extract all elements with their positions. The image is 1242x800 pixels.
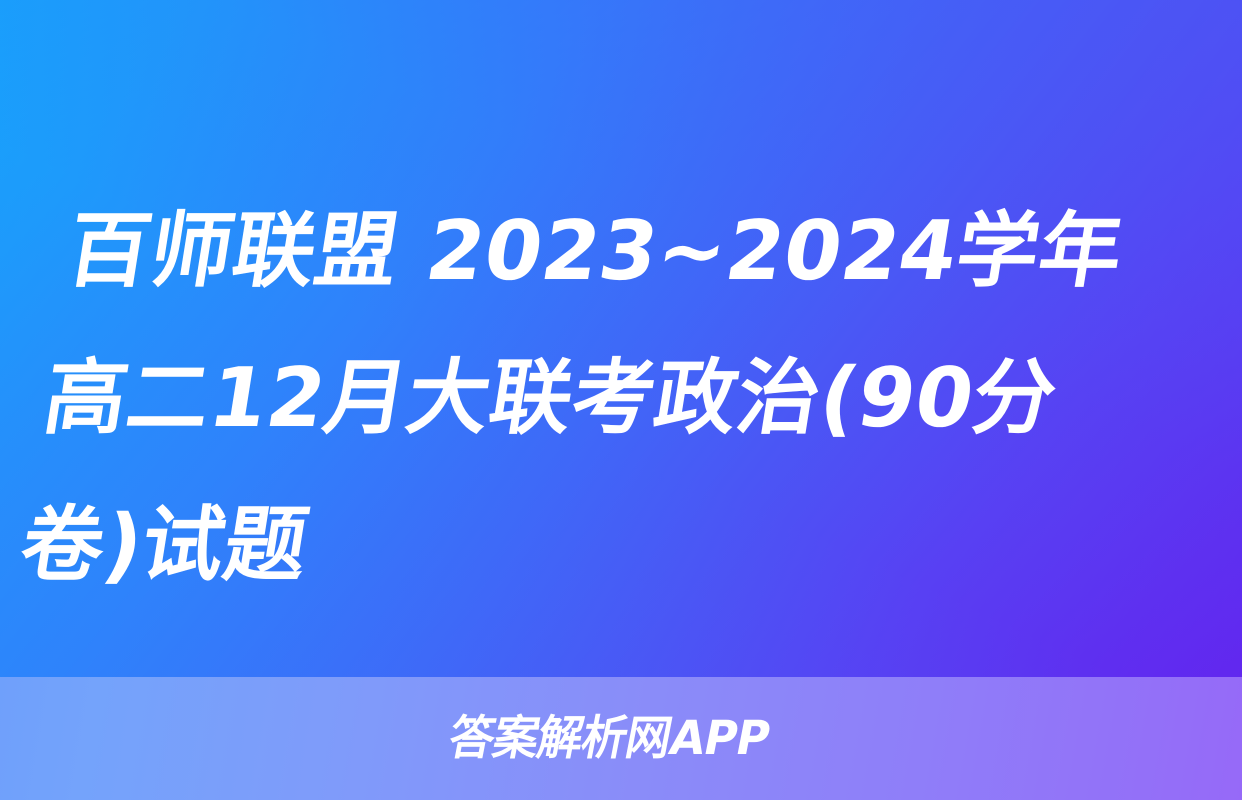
app-wordmark: 答案解析网APP (445, 715, 773, 762)
hero-gradient-panel: 百师联盟 2023~2024学年高二12月大联考政治(90分卷)试题 (0, 0, 1242, 677)
page-title: 百师联盟 2023~2024学年高二12月大联考政治(90分卷)试题 (10, 178, 1170, 619)
footer-brand-band: 答案解析网APP (0, 677, 1242, 800)
exam-paper-cover-poster: 百师联盟 2023~2024学年高二12月大联考政治(90分卷)试题 答案解析网… (0, 0, 1242, 800)
